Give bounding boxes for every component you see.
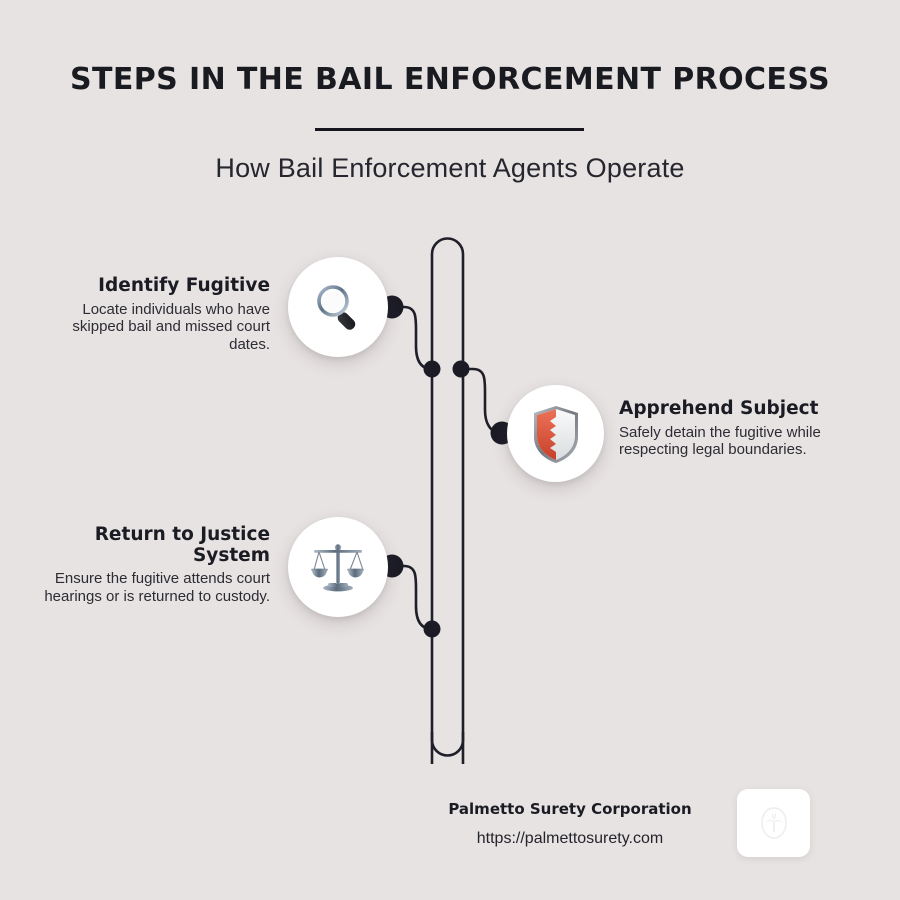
step-body: Ensure the fugitive attends court hearin… xyxy=(40,570,270,605)
page-subtitle: How Bail Enforcement Agents Operate xyxy=(0,153,900,184)
magnifying-glass-icon xyxy=(310,279,366,335)
step-body: Safely detain the fugitive while respect… xyxy=(619,424,867,459)
page-title: STEPS IN THE BAIL ENFORCEMENT PROCESS xyxy=(0,62,900,97)
infographic-canvas: STEPS IN THE BAIL ENFORCEMENT PROCESS Ho… xyxy=(0,0,900,900)
step-icon-circle-identify-fugitive[interactable] xyxy=(288,257,388,357)
title-divider xyxy=(315,128,584,131)
footer-logo-box xyxy=(737,789,810,857)
process-track xyxy=(425,232,470,764)
step-icon-circle-apprehend-subject[interactable] xyxy=(507,385,604,482)
step-text-return-to-justice-system: Return to Justice System Ensure the fugi… xyxy=(40,525,270,606)
step-heading: Apprehend Subject xyxy=(619,399,867,420)
track-top-arc xyxy=(432,239,463,765)
track-bottom-arc xyxy=(432,732,463,756)
footer-website-url[interactable]: https://palmettosurety.com xyxy=(420,830,720,848)
step-text-apprehend-subject: Apprehend Subject Safely detain the fugi… xyxy=(619,399,867,459)
palmetto-tree-shield-logo xyxy=(759,806,789,840)
step-heading: Identify Fugitive xyxy=(40,276,270,297)
step-body: Locate individuals who have skipped bail… xyxy=(40,301,270,354)
balance-scales-icon xyxy=(309,540,367,594)
step-heading: Return to Justice System xyxy=(40,525,270,566)
shield-icon xyxy=(530,404,582,464)
step-icon-circle-return-to-justice-system[interactable] xyxy=(288,517,388,617)
step-text-identify-fugitive: Identify Fugitive Locate individuals who… xyxy=(40,276,270,353)
footer-company-name: Palmetto Surety Corporation xyxy=(420,800,720,818)
